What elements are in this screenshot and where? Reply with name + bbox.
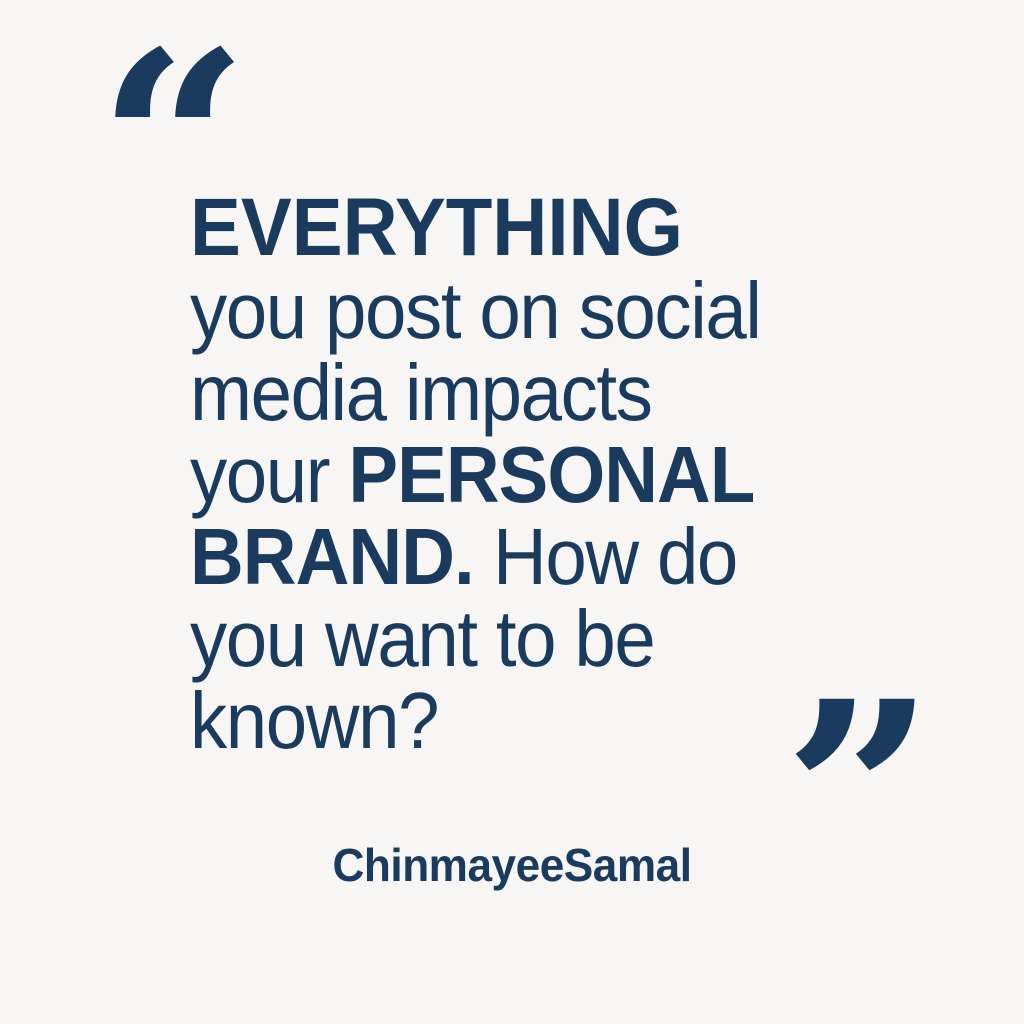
quote-line-2-light: you post on social [190, 266, 760, 355]
quote-line-1-bold: EVERYTHING [190, 182, 683, 273]
quote-line-1: EVERYTHING [190, 186, 841, 270]
quote-line-7-light: known? [190, 676, 438, 765]
quote-line-5-light: How do [474, 512, 737, 601]
quote-line-4: your PERSONAL [190, 434, 841, 516]
quote-line-5-bold: BRAND. [190, 512, 474, 601]
quote-line-2: you post on social [190, 270, 841, 352]
quote-line-4-light: your [190, 430, 348, 519]
quote-line-6-light: you want to be [190, 594, 654, 683]
quote-line-7: known? [190, 680, 841, 762]
quote-line-4-bold: PERSONAL [348, 430, 754, 519]
attribution-name: ChinmayeeSamal [20, 838, 1003, 892]
quote-line-6: you want to be [190, 598, 841, 680]
quote-line-5: BRAND. How do [190, 516, 841, 598]
quote-card: “ EVERYTHING you post on social media im… [0, 0, 1024, 1024]
quote-line-3: media impacts [190, 352, 841, 434]
quote-line-3-light: media impacts [190, 348, 652, 437]
